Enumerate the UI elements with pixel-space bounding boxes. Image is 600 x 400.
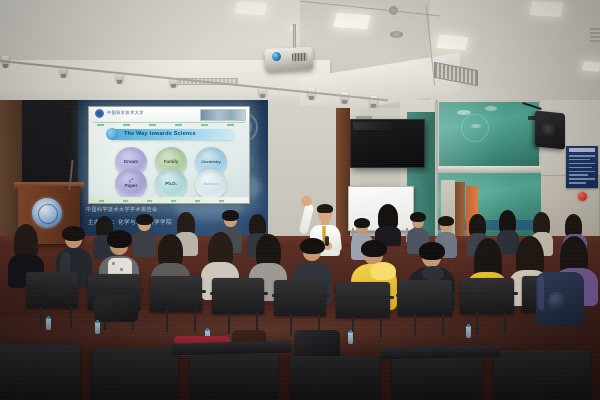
chair-backrest [392,354,482,400]
chair-backrest [290,356,380,400]
sign-text-line [569,178,595,180]
lecture-hall-photo: 中国科学技术大学学术报告会 主办单位：化学与材料科学学院 中国科学技术大学 Th… [0,0,600,400]
panel-light [530,1,563,17]
slide-footer-tick [171,200,176,202]
university-crest-logo-icon [95,109,104,118]
chair-backrest [92,348,178,400]
slide-title: The Way towards Science [124,131,196,137]
panel-light [437,35,469,51]
display-mount [356,116,372,119]
slide-footer-tick [219,200,224,202]
sign-text-line [569,182,586,184]
chair-backrest [0,344,80,400]
panel-light [582,61,600,71]
chair-backrest [274,280,326,316]
water-bottle [46,318,51,330]
chair-backrest [460,278,514,314]
university-seal-emblem [32,198,62,228]
water-bottle [95,322,100,334]
red-emergency-button[interactable] [578,192,587,201]
panel-light [235,1,268,15]
slide-tick [149,124,156,126]
panelist [374,204,402,244]
chair-backrest [212,278,264,314]
chair-backrest [336,282,390,318]
slide-tick [175,124,182,126]
panel-light [333,13,370,29]
slide-tick [123,124,130,126]
sign-text-line [569,155,595,157]
slide-footer-tick [195,200,200,202]
sign-text-line [569,159,590,161]
projector-mount-pole [293,24,296,50]
wall-regulation-sign [566,146,598,188]
chair-backrest [190,352,278,400]
water-bottle [466,326,471,338]
projector-vent [292,53,307,62]
sign-title-bar [569,148,595,152]
slide-title-bullet-icon [106,128,118,140]
chair-backrest [398,280,452,316]
sign-text-line [569,163,595,165]
slide-footer-tick [123,200,128,202]
slide-divider [93,122,245,123]
sign-text-line [569,171,595,173]
bag [94,296,138,322]
slide-title-band: The Way towards Science [111,129,233,140]
sign-text-line [569,167,592,169]
door-frame [455,182,465,240]
handheld-microphone [325,236,329,246]
slide-header-text: 中国科学技术大学 [107,110,144,116]
glass-partition-upper [437,100,541,168]
ceiling-speaker [390,31,403,38]
slide-bubble-phd: Ph.D. [155,169,187,199]
water-bottle [348,332,353,344]
wall-mounted-display [350,119,425,168]
chair-backrest [26,272,78,308]
banner-line-1: 中国科学技术大学学术报告会 [86,206,158,213]
backpack-strap [538,276,544,310]
slide-tick [201,124,208,126]
slide-tick [227,124,234,126]
slide-bubble-first-paper: 1st Paper [115,169,147,199]
presenter-hair [317,204,333,213]
projection-screen: 中国科学技术大学 The Way towards Science Dream F… [88,106,250,204]
backpack-logo-icon [548,292,566,310]
slide-footer-tick [147,200,152,202]
slide-footer-tick [99,200,104,202]
slide-bubble-science: Science [195,169,227,199]
presenter-arm [331,230,342,253]
slide-footer [89,197,249,203]
glass-partition-rail [437,166,541,173]
wall-air-vent [590,26,600,42]
slide-tick [97,124,104,126]
chair-backrest [494,350,590,400]
chair-backrest [150,276,202,312]
chair-seat [380,345,500,359]
slide-header-photo [200,109,246,121]
sign-text-line [569,174,588,176]
jacket-hood [370,262,396,280]
